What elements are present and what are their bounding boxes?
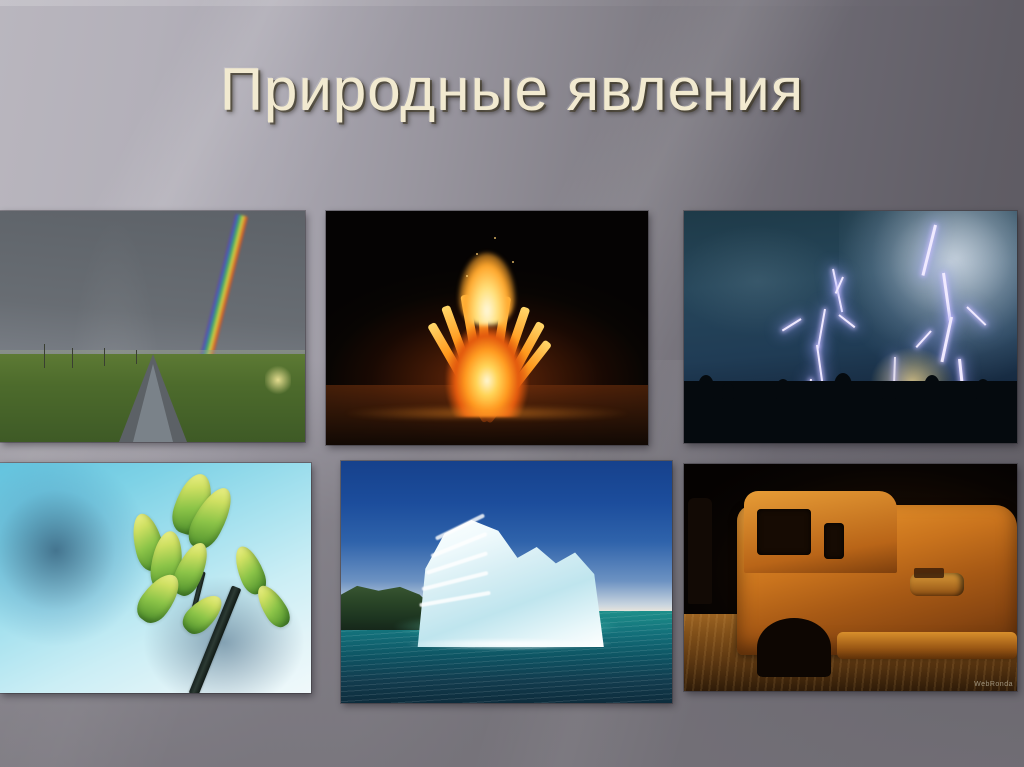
tree-icon: [924, 375, 940, 399]
tree-icon: [834, 373, 852, 399]
top-sheen-decoration: [0, 0, 1024, 6]
fence-post-icon: [104, 348, 105, 366]
fence-post-icon: [44, 344, 45, 368]
fence-post-icon: [136, 350, 137, 364]
car-window-small: [824, 523, 844, 559]
presentation-slide: Природные явления: [0, 0, 1024, 767]
photo-spring-buds[interactable]: [0, 463, 311, 693]
tree-icon: [698, 375, 714, 399]
car-wheel-well: [757, 618, 830, 677]
fence-post-icon: [72, 348, 73, 368]
rusted-car-image-content: WebRonda: [684, 464, 1017, 691]
spring-buds-image-content: [0, 463, 311, 693]
ember-spark-icon: [476, 253, 478, 255]
photo-iceberg[interactable]: [341, 461, 672, 703]
photo-lightning[interactable]: [684, 211, 1017, 443]
bonfire-image-content: [326, 211, 648, 445]
iceberg-waterline-foam: [407, 638, 612, 650]
photo-rainbow[interactable]: [0, 211, 305, 442]
bonfire-ember-bed: [345, 405, 628, 419]
bystander-silhouette: [688, 498, 712, 604]
photo-rusted-car[interactable]: WebRonda: [684, 464, 1017, 691]
rainbow-image-content: [0, 211, 305, 442]
iceberg-image-content: [341, 461, 672, 703]
rainbow-field-light: [265, 364, 291, 396]
car-bumper: [837, 632, 1017, 659]
tree-icon: [776, 379, 790, 399]
image-watermark: WebRonda: [974, 681, 1013, 688]
rainbow-road-reflection: [133, 364, 173, 442]
tree-icon: [882, 381, 896, 399]
car-badge: [914, 568, 944, 577]
ember-spark-icon: [494, 237, 496, 239]
car-window: [757, 509, 810, 554]
tree-icon: [722, 383, 734, 399]
ember-spark-icon: [512, 261, 514, 263]
lightning-image-content: [684, 211, 1017, 443]
slide-title: Природные явления: [0, 58, 1024, 122]
tree-icon: [976, 379, 990, 399]
photo-bonfire[interactable]: [326, 211, 648, 445]
ember-spark-icon: [466, 275, 468, 277]
